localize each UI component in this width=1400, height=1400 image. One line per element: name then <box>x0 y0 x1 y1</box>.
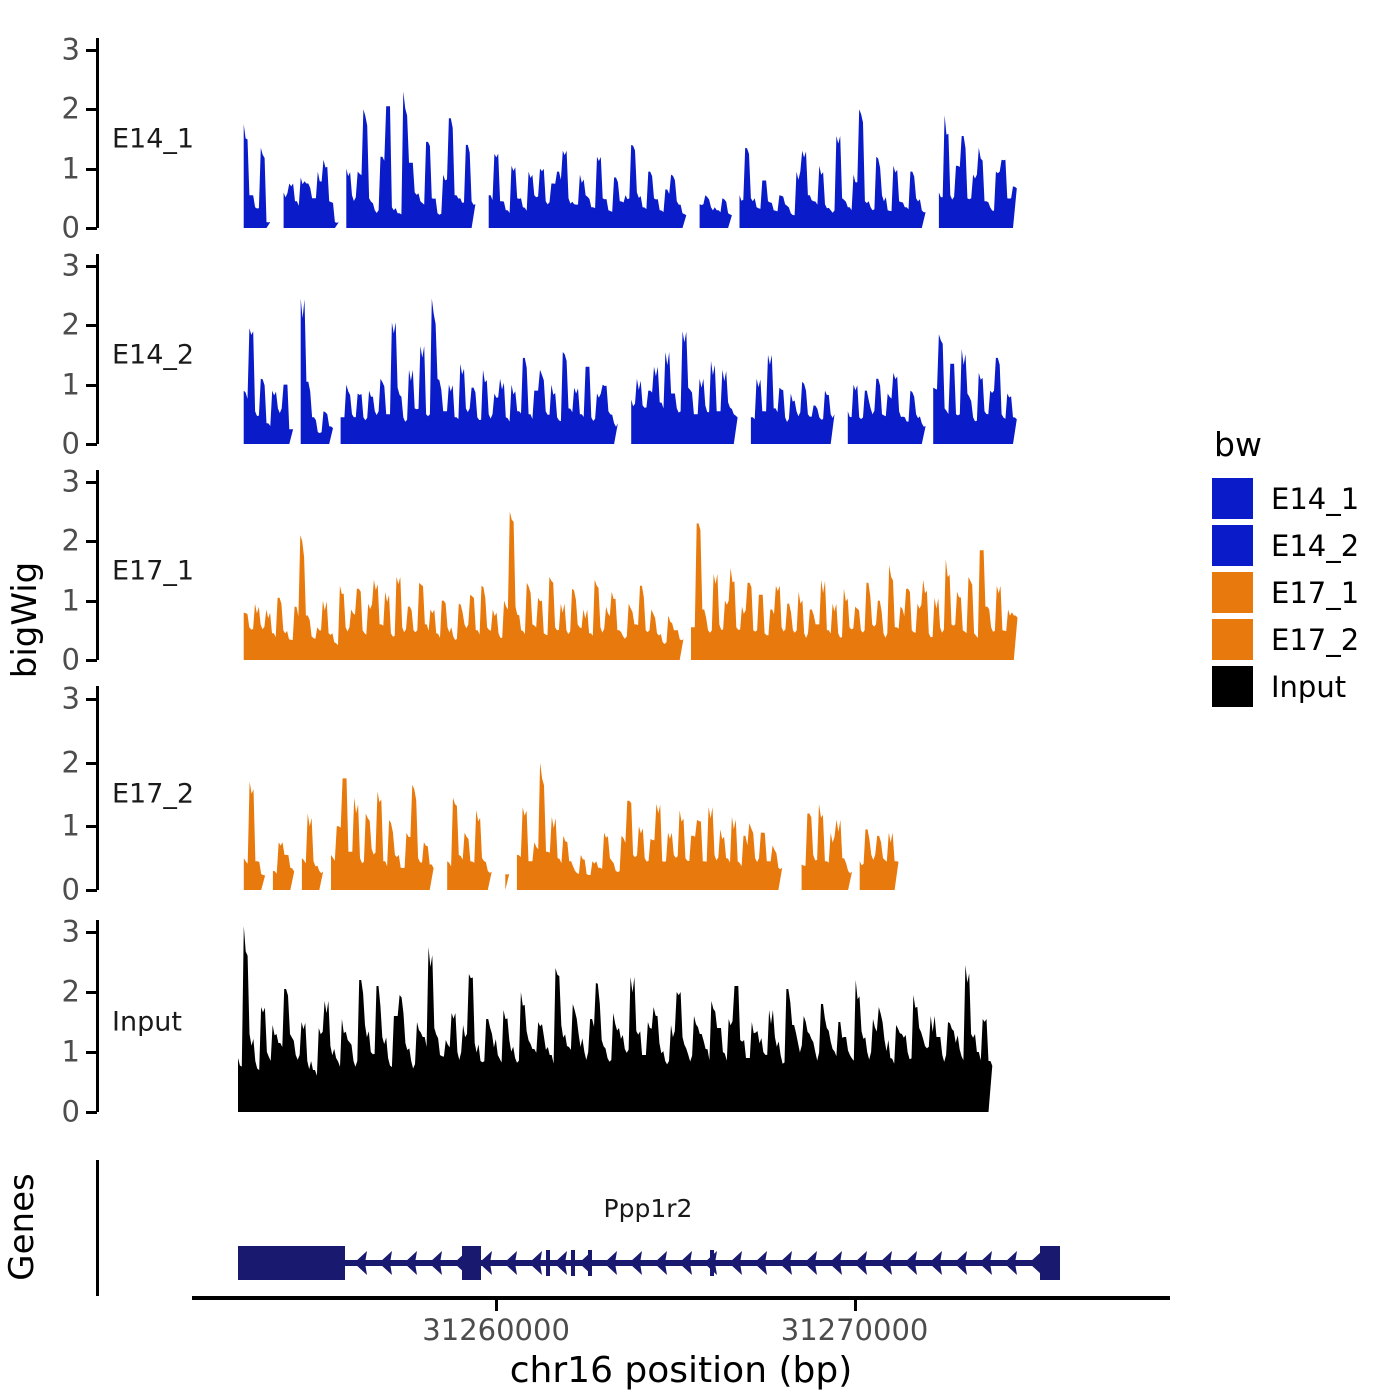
gene-exon <box>546 1250 550 1276</box>
track-panel-input: 0123Input <box>0 920 1180 1112</box>
track-panel-e14_1: 0123E14_1 <box>0 38 1180 228</box>
x-tick-label: 31260000 <box>422 1313 570 1347</box>
track-area-e17_2 <box>0 686 1180 890</box>
legend-item-e17_2[interactable]: E17_2 <box>1212 616 1392 663</box>
track-area-e14_1 <box>0 38 1180 228</box>
legend-item-e17_1[interactable]: E17_1 <box>1212 569 1392 616</box>
x-axis-title: chr16 position (bp) <box>192 1350 1170 1391</box>
legend-title: bw <box>1214 428 1392 461</box>
legend-label: E14_2 <box>1271 529 1359 563</box>
legend-item-input[interactable]: Input <box>1212 663 1392 710</box>
legend-label: E17_1 <box>1271 576 1359 610</box>
genes-panel: Ppp1r2 <box>0 1160 1180 1296</box>
x-tick <box>854 1300 857 1311</box>
x-tick-label: 31270000 <box>781 1313 929 1347</box>
x-tick <box>495 1300 498 1311</box>
legend-swatch-e14_2 <box>1212 525 1253 566</box>
track-panel-e17_1: 0123E17_1 <box>0 470 1180 660</box>
legend-swatch-e17_2 <box>1212 619 1253 660</box>
legend-swatch-e14_1 <box>1212 478 1253 519</box>
gene-exon <box>462 1246 481 1280</box>
legend-swatch-e17_1 <box>1212 572 1253 613</box>
legend-label: E17_2 <box>1271 623 1359 657</box>
gene-model <box>0 1160 1180 1296</box>
track-area-e14_2 <box>0 254 1180 444</box>
legend-label: E14_1 <box>1271 482 1359 516</box>
legend-item-e14_2[interactable]: E14_2 <box>1212 522 1392 569</box>
track-area-input <box>0 920 1180 1112</box>
legend-items: E14_1E14_2E17_1E17_2Input <box>1212 475 1392 710</box>
legend-swatch-input <box>1212 666 1253 707</box>
track-panel-e17_2: 0123E17_2 <box>0 686 1180 890</box>
gene-exon <box>710 1250 714 1276</box>
genome-browser-figure: bigWig Genes 0123E14_10123E14_20123E17_1… <box>0 0 1400 1400</box>
legend: bw E14_1E14_2E17_1E17_2Input <box>1212 428 1392 710</box>
x-axis-line <box>192 1296 1170 1300</box>
legend-label: Input <box>1271 670 1346 704</box>
gene-exon <box>238 1246 345 1280</box>
gene-exon <box>588 1250 592 1276</box>
legend-item-e14_1[interactable]: E14_1 <box>1212 475 1392 522</box>
track-area-e17_1 <box>0 470 1180 660</box>
track-panel-e14_2: 0123E14_2 <box>0 254 1180 444</box>
gene-exon <box>571 1250 575 1276</box>
gene-exon <box>1040 1246 1060 1280</box>
